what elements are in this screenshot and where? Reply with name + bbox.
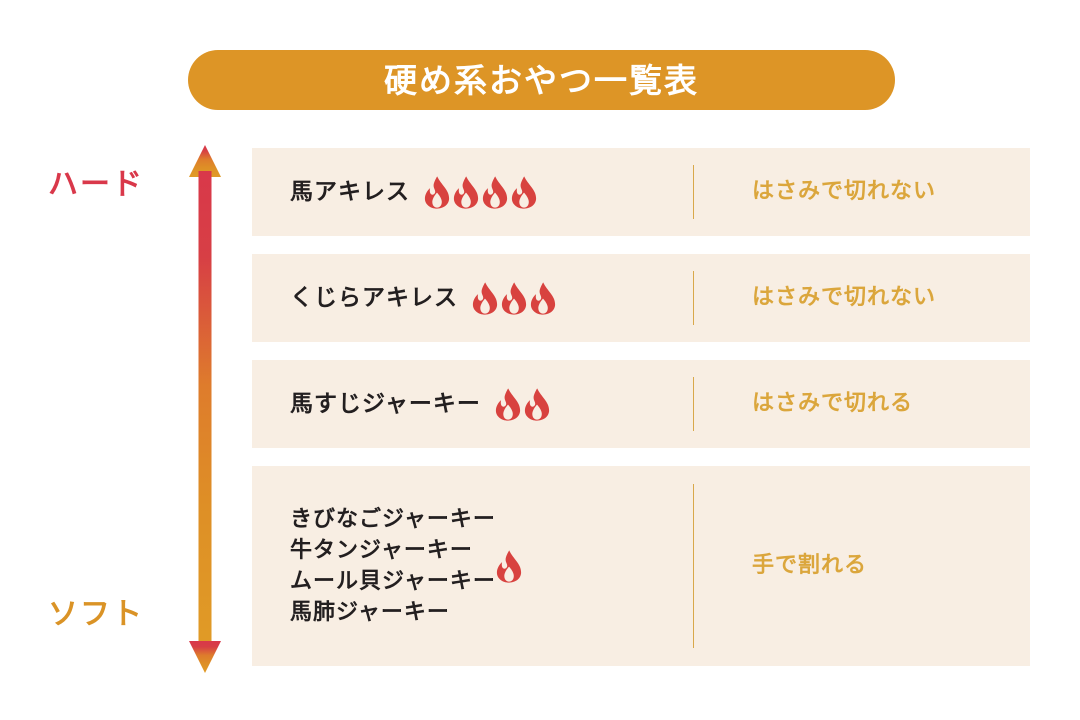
row-divider-cell — [682, 148, 704, 236]
table-row[interactable]: くじらアキレス はさみで切れない — [252, 254, 1030, 342]
title-pill: 硬め系おやつ一覧表 — [188, 50, 895, 110]
flame-icon — [495, 388, 521, 421]
axis-label-soft: ソフト — [48, 600, 144, 630]
vertical-divider — [693, 484, 694, 648]
snack-hardness-table: 馬アキレス はさみで切れない くじらアキレス — [252, 148, 1030, 666]
snack-name: 牛タンジャーキー — [290, 535, 496, 566]
flame-rating — [424, 176, 537, 209]
table-row[interactable]: 馬アキレス はさみで切れない — [252, 148, 1030, 236]
snack-name: ムール貝ジャーキー — [290, 566, 496, 597]
row-divider-cell — [682, 360, 704, 448]
row-name-cell: 馬すじジャーキー — [252, 360, 682, 448]
row-name-cell: きびなごジャーキー 牛タンジャーキー ムール貝ジャーキー 馬肺ジャーキー — [252, 466, 682, 666]
flame-icon — [424, 176, 450, 209]
hardness-gradient-arrow — [185, 145, 225, 673]
flame-icon — [482, 176, 508, 209]
page-title: 硬め系おやつ一覧表 — [384, 64, 699, 97]
snack-name: 馬すじジャーキー — [290, 388, 481, 421]
table-row[interactable]: きびなごジャーキー 牛タンジャーキー ムール貝ジャーキー 馬肺ジャーキー 手で割… — [252, 466, 1030, 666]
row-name-list: 馬すじジャーキー — [290, 388, 481, 421]
row-name-list: 馬アキレス — [290, 176, 410, 209]
flame-icon — [530, 282, 556, 315]
hardness-axis: ハード ソフト — [30, 145, 230, 673]
row-note-cell: はさみで切れない — [704, 148, 1030, 236]
flame-rating — [495, 388, 550, 421]
infographic-canvas: 硬め系おやつ一覧表 ハード ソフト — [0, 0, 1080, 720]
flame-rating — [496, 550, 522, 583]
hardness-note: はさみで切れない — [752, 287, 936, 309]
snack-name: 馬肺ジャーキー — [290, 597, 496, 628]
flame-rating — [472, 282, 556, 315]
row-name-list: きびなごジャーキー 牛タンジャーキー ムール貝ジャーキー 馬肺ジャーキー — [290, 504, 496, 629]
vertical-divider — [693, 377, 694, 431]
row-note-cell: はさみで切れない — [704, 254, 1030, 342]
table-row[interactable]: 馬すじジャーキー はさみで切れる — [252, 360, 1030, 448]
snack-name: きびなごジャーキー — [290, 504, 496, 535]
flame-icon — [472, 282, 498, 315]
snack-name: 馬アキレス — [290, 176, 410, 209]
vertical-divider — [693, 271, 694, 325]
flame-icon — [496, 550, 522, 583]
row-divider-cell — [682, 466, 704, 666]
flame-icon — [501, 282, 527, 315]
row-divider-cell — [682, 254, 704, 342]
hardness-note: はさみで切れない — [752, 181, 936, 203]
flame-icon — [524, 388, 550, 421]
snack-name: くじらアキレス — [290, 282, 458, 315]
hardness-note: はさみで切れる — [752, 393, 913, 415]
row-note-cell: はさみで切れる — [704, 360, 1030, 448]
hardness-note: 手で割れる — [752, 555, 867, 577]
axis-label-hard: ハード — [48, 170, 144, 200]
row-name-list: くじらアキレス — [290, 282, 458, 315]
row-note-cell: 手で割れる — [704, 466, 1030, 666]
row-name-cell: くじらアキレス — [252, 254, 682, 342]
flame-icon — [453, 176, 479, 209]
vertical-divider — [693, 165, 694, 219]
flame-icon — [511, 176, 537, 209]
row-name-cell: 馬アキレス — [252, 148, 682, 236]
